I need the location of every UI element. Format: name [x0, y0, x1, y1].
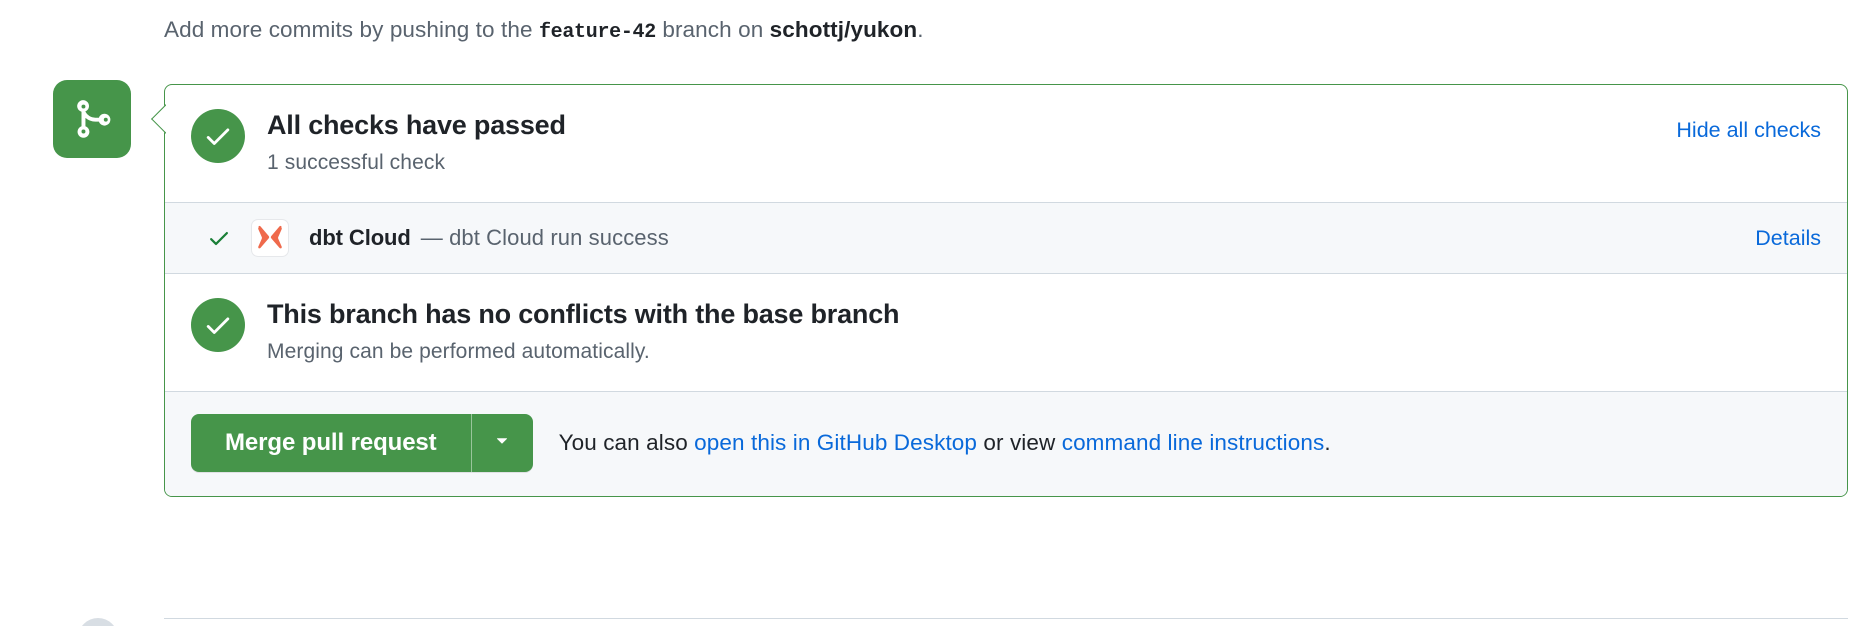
merge-status-box: All checks have passed 1 successful chec…	[164, 84, 1848, 497]
push-note-lead: Add more commits by pushing to the	[164, 17, 533, 42]
git-merge-icon	[71, 98, 113, 140]
footer-note-middle: or view	[983, 430, 1055, 455]
conflicts-subtitle: Merging can be performed automatically.	[267, 337, 1821, 367]
footer-note-lead: You can also	[559, 430, 688, 455]
check-app-name: dbt Cloud	[309, 225, 411, 251]
merge-pull-request-button[interactable]: Merge pull request	[191, 414, 471, 472]
merge-options-dropdown-button[interactable]	[471, 414, 533, 472]
github-pr-merge-box-screen: Add more commits by pushing to the featu…	[0, 0, 1868, 626]
push-note-middle: branch on	[662, 17, 763, 42]
check-circle-icon	[191, 298, 245, 352]
merge-state-badge	[53, 80, 131, 158]
check-circle-icon	[191, 109, 245, 163]
footer-note-end: .	[1324, 430, 1330, 455]
merge-box-connector	[148, 100, 166, 138]
push-commits-note: Add more commits by pushing to the featu…	[164, 14, 924, 49]
hide-all-checks-link[interactable]: Hide all checks	[1676, 115, 1821, 145]
push-note-period: .	[917, 17, 923, 42]
check-description-text: dbt Cloud run success	[449, 225, 669, 250]
check-description: — dbt Cloud run success	[421, 225, 669, 251]
merge-footer-note: You can also open this in GitHub Desktop…	[559, 430, 1331, 456]
open-in-github-desktop-link[interactable]: open this in GitHub Desktop	[694, 430, 977, 455]
check-icon	[207, 226, 231, 250]
next-timeline-item	[164, 618, 1848, 626]
check-details-link[interactable]: Details	[1755, 226, 1821, 251]
dbt-logo-icon	[251, 219, 289, 257]
repository-name: schottj/yukon	[770, 17, 918, 42]
check-separator: —	[421, 225, 443, 250]
branch-name: feature-42	[539, 21, 656, 44]
command-line-instructions-link[interactable]: command line instructions	[1062, 430, 1325, 455]
conflicts-section: This branch has no conflicts with the ba…	[165, 274, 1847, 392]
check-row[interactable]: dbt Cloud — dbt Cloud run success Detail…	[165, 203, 1847, 274]
checks-summary-section: All checks have passed 1 successful chec…	[165, 85, 1847, 203]
checks-summary-subtitle: 1 successful check	[267, 148, 1656, 178]
avatar	[78, 618, 118, 626]
merge-button-group: Merge pull request	[191, 414, 533, 472]
merge-action-footer: Merge pull request You can also open thi…	[165, 392, 1847, 496]
checks-summary-title: All checks have passed	[267, 107, 1656, 143]
chevron-down-icon	[491, 430, 513, 457]
conflicts-title: This branch has no conflicts with the ba…	[267, 296, 1821, 332]
